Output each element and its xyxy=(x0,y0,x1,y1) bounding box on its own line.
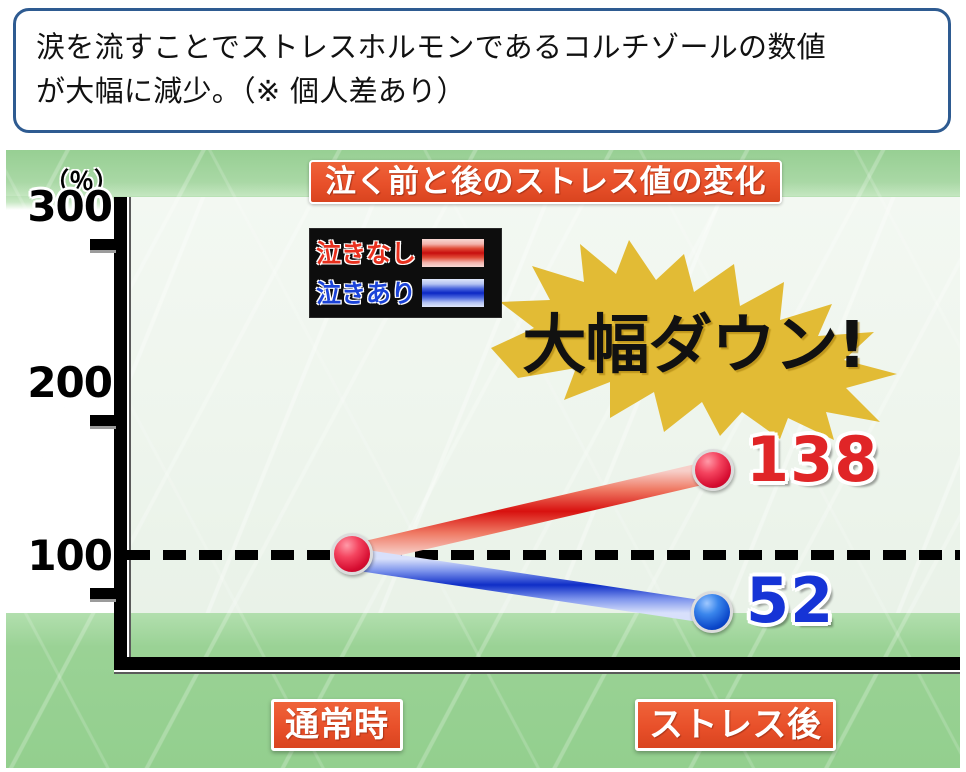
x-label-after-stress-text: ストレス後 xyxy=(649,708,822,742)
y-tick-100: 100 xyxy=(6,535,116,619)
x-label-normal: 通常時 xyxy=(271,699,403,751)
legend-item-no-crying-label: 泣きなし xyxy=(316,241,416,266)
y-tick-300: 300 xyxy=(6,186,116,270)
legend-item-crying-swatch xyxy=(422,279,484,307)
legend-item-crying-label: 泣きあり xyxy=(316,281,416,306)
chart-title-text: 泣く前と後のストレス値の変化 xyxy=(325,167,766,198)
y-tick-100-mark xyxy=(90,588,116,599)
chart-title-badge: 泣く前と後のストレス値の変化 xyxy=(309,160,782,204)
y-tick-200-label: 200 xyxy=(27,358,116,407)
value-label-52: 52 xyxy=(746,570,834,632)
y-tick-300-mark xyxy=(90,239,116,250)
y-tick-300-label: 300 xyxy=(27,182,116,231)
data-point-no-crying-end[interactable] xyxy=(692,449,734,491)
x-label-normal-text: 通常時 xyxy=(285,708,389,742)
reference-line-100 xyxy=(127,550,960,560)
y-tick-200: 200 xyxy=(6,362,116,446)
burst-callout: 大幅ダウン! xyxy=(488,240,900,440)
x-axis-line xyxy=(114,657,960,670)
caption-text: 涙を流すことでストレスホルモンであるコルチゾールの数値 が大幅に減少。（※ 個人… xyxy=(36,25,928,113)
legend: 泣きなし 泣きあり xyxy=(309,228,502,318)
value-label-138: 138 xyxy=(746,429,878,491)
y-tick-100-label: 100 xyxy=(27,531,116,580)
legend-item-crying: 泣きあり xyxy=(316,274,495,312)
screenshot-root: 涙を流すことでストレスホルモンであるコルチゾールの数値 が大幅に減少。（※ 個人… xyxy=(0,0,966,772)
legend-item-no-crying-swatch xyxy=(422,239,484,267)
data-point-crying-end[interactable] xyxy=(691,591,733,633)
y-tick-200-mark xyxy=(90,415,116,426)
burst-text: 大幅ダウン! xyxy=(488,240,900,440)
chart-panel: （％） 300 200 100 大幅ダウン! 泣きなし 泣きあり xyxy=(6,150,960,768)
data-point-start[interactable] xyxy=(331,533,373,575)
caption-box: 涙を流すことでストレスホルモンであるコルチゾールの数値 が大幅に減少。（※ 個人… xyxy=(13,8,951,133)
legend-item-no-crying: 泣きなし xyxy=(316,234,495,272)
x-label-after-stress: ストレス後 xyxy=(635,699,836,751)
